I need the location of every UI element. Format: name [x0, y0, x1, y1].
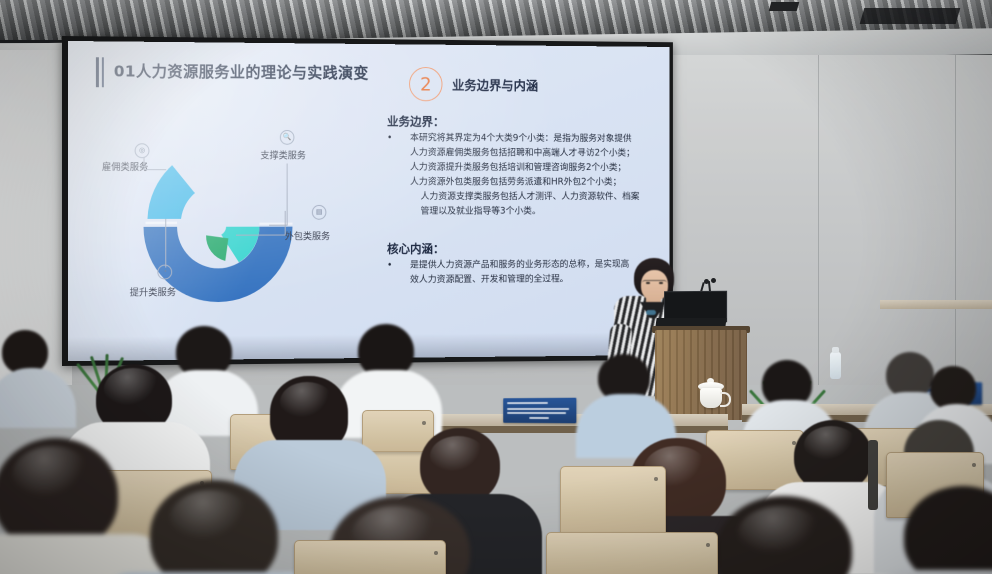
paragraph-body: 本研究将其界定为4个大类9个小类：是指为服务对象提供 人力资源雇佣类服务包括招聘… — [387, 130, 670, 218]
lecture-chair — [560, 466, 666, 534]
section-title: 业务边界与内涵 — [452, 75, 538, 94]
search-icon: 🔍 — [280, 130, 295, 145]
text-line: 人力资源雇佣类服务包括招聘和中高端人才寻访2个小类； — [410, 145, 670, 160]
text-line: 人力资源外包类服务包括劳务派遣和HR外包2个小类； — [410, 175, 670, 190]
lecture-chair — [294, 540, 446, 574]
wall-panel-seam — [955, 55, 956, 385]
leader-line — [144, 157, 167, 170]
donut-svg — [86, 123, 379, 343]
eyeglasses-icon — [642, 280, 667, 287]
donut-label-support: 支撑类服务 — [260, 148, 306, 162]
ceiling-light-fixture — [860, 8, 961, 24]
slide-header-title: 01人力资源服务业的理论与实践演变 — [114, 59, 369, 83]
presenter-necklace — [646, 310, 656, 315]
text-line: 管理以及就业指导等3个小类。 — [410, 204, 670, 219]
name-placard-front — [503, 398, 576, 424]
leader-line — [236, 211, 286, 236]
target-icon: ◎ — [135, 143, 150, 158]
paragraph-boundary: • 本研究将其界定为4个大类9个小类：是指为服务对象提供 人力资源雇佣类服务包括… — [387, 130, 670, 218]
lecture-chair — [546, 532, 718, 574]
section-heading-boundary: 业务边界： — [387, 113, 444, 130]
donut-label-upgrade: 提升类服务 — [130, 284, 176, 298]
ceiling-vent-icon — [769, 2, 800, 11]
donut-slice-employment — [147, 165, 194, 219]
lecture-chair — [362, 410, 434, 452]
microphone-head — [704, 279, 709, 284]
conference-room-photo: 01人力资源服务业的理论与实践演变 2 业务边界与内涵 — [0, 0, 992, 574]
text-line: 人力资源支撑类服务包括人才测评、人力资源软件、档案 — [410, 189, 670, 204]
title-accent-bars — [96, 57, 104, 87]
donut-slice-upgrade — [203, 235, 228, 261]
rear-table — [880, 300, 992, 309]
donut-label-outsourcing: 外包类服务 — [285, 229, 330, 243]
leader-line — [165, 219, 166, 268]
tea-cup — [700, 388, 722, 408]
briefcase-icon: ▤ — [312, 205, 327, 220]
podium — [655, 330, 747, 420]
service-category-donut-chart: ◎ 雇佣类服务 🔍 支撑类服务 ▤ 外包类服务 ◔ 提升类服务 — [86, 123, 379, 343]
text-line: 人力资源提升类服务包括培训和管理咨询服务2个小类； — [410, 160, 670, 175]
bullet-marker: • — [387, 258, 392, 273]
microphone-head — [711, 278, 716, 283]
chair-frame — [868, 440, 878, 510]
text-line: 本研究将其界定为4个大类9个小类：是指为服务对象提供 — [410, 131, 670, 147]
presentation-slide: 01人力资源服务业的理论与实践演变 2 业务边界与内涵 — [68, 41, 670, 361]
donut-label-employment: 雇佣类服务 — [102, 159, 148, 173]
projection-screen: 01人力资源服务业的理论与实践演变 2 业务边界与内涵 — [68, 41, 670, 361]
section-heading-core: 核心内涵： — [387, 240, 444, 257]
bullet-marker: • — [387, 130, 392, 145]
section-number-badge: 2 — [409, 67, 442, 101]
wood-grain — [655, 330, 747, 420]
